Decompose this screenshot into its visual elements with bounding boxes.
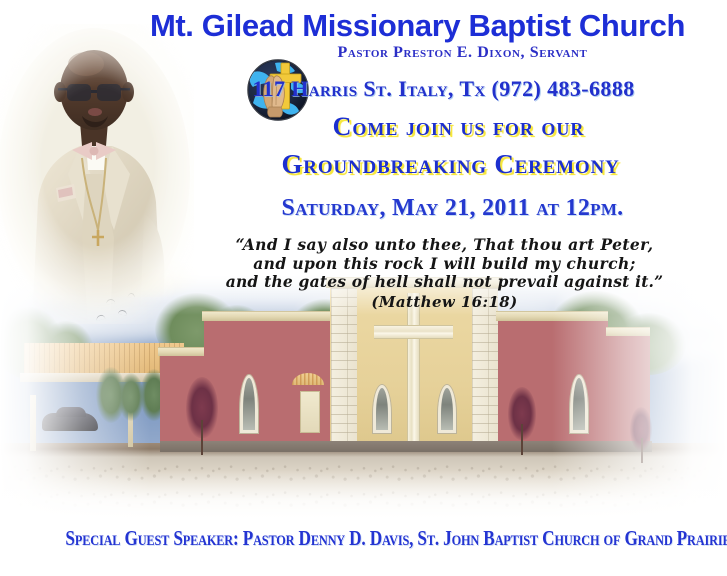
church-flyer: Mt. Gilead Missionary Baptist Church Pas… — [0, 0, 727, 576]
foreground-tree — [186, 377, 218, 455]
invitation-line: Come join us for our — [0, 112, 727, 142]
scripture-line-2: and upon this rock I will build my churc… — [253, 254, 636, 273]
pastor-name-line: Pastor Preston E. Dixon, Servant — [0, 44, 727, 62]
entrance-door[interactable] — [300, 391, 320, 433]
cornice — [202, 311, 350, 321]
event-datetime-line: Saturday, May 21, 2011 at 12pm. — [0, 195, 727, 222]
cross-vertical — [407, 293, 420, 449]
foundation-base — [160, 441, 652, 452]
event-name-line: Groundbreaking Ceremony — [0, 149, 727, 180]
cross-horizontal — [374, 325, 453, 339]
cornice — [606, 327, 650, 336]
scripture-line-3: and the gates of hell shall not prevail … — [226, 272, 664, 291]
tower-stone-pilaster — [331, 288, 357, 451]
scripture-line-1: “And I say also unto thee, That thou art… — [236, 235, 654, 254]
gravel-path — [0, 461, 727, 507]
carport-column — [30, 395, 36, 451]
church-title: Mt. Gilead Missionary Baptist Church — [0, 8, 727, 44]
car-roof — [56, 407, 86, 417]
address-phone-line: 117 Harris St. Italy, Tx (972) 483-6888 — [0, 76, 727, 102]
cornice — [158, 347, 206, 356]
scripture-reference: (Matthew 16:18) — [172, 292, 717, 312]
guest-speaker-banner: Special Guest Speaker: Pastor Denny D. D… — [65, 526, 661, 551]
brick-wall — [204, 321, 348, 451]
foreground-tree — [508, 387, 536, 455]
tower-stone-pilaster — [472, 288, 498, 451]
cornice — [496, 311, 608, 321]
foreground-tree — [630, 407, 652, 463]
scripture-quote: “And I say also unto thee, That thou art… — [172, 236, 717, 311]
